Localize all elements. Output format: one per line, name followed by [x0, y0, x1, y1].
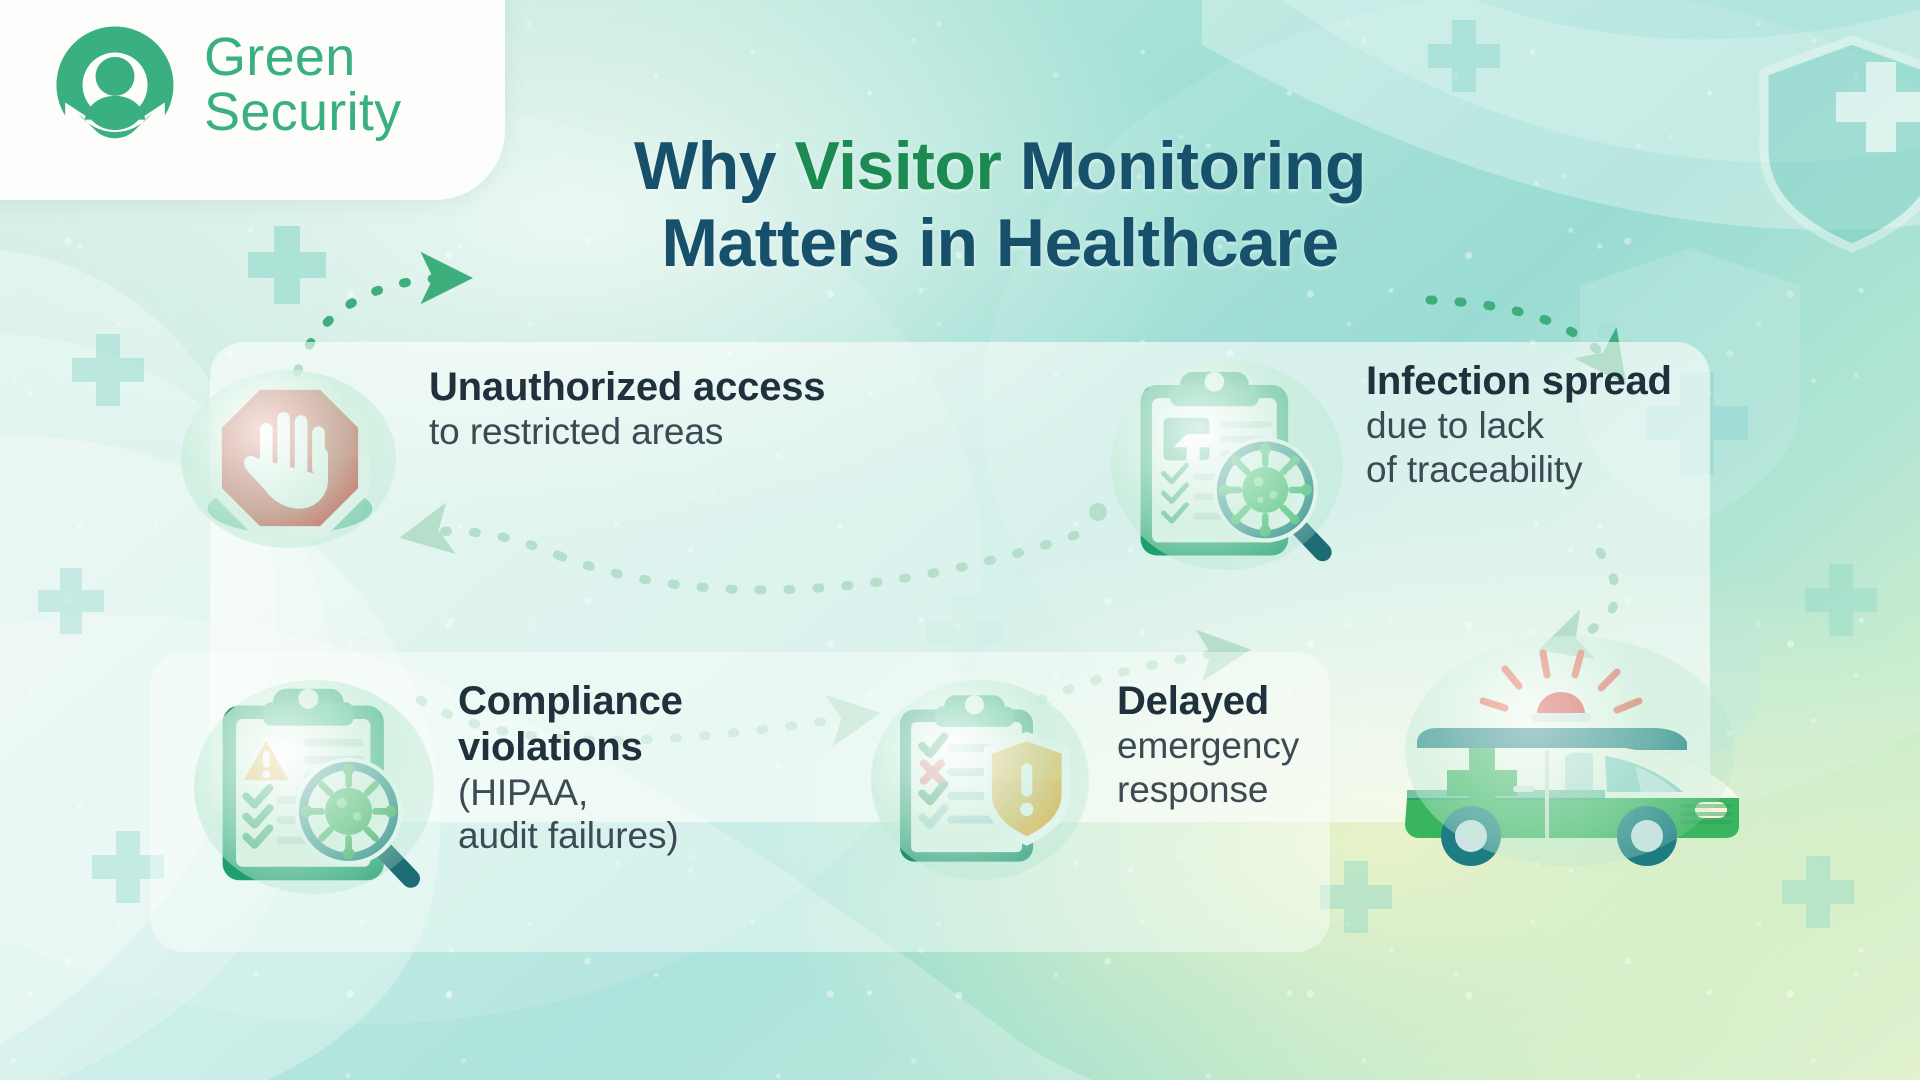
card-text: Infection spread due to lack of traceabi…: [1366, 352, 1766, 492]
card-subline: to restricted areas: [429, 410, 949, 454]
title-why: Why: [634, 128, 794, 204]
card-headline-line2: violations: [458, 724, 768, 770]
card-headline-line1: Compliance: [458, 678, 768, 724]
brand-name-line2: Security: [204, 85, 401, 140]
brand-name-line1: Green: [204, 27, 356, 87]
page-title: Why Visitor Monitoring Matters in Health…: [495, 128, 1505, 282]
card-headline: Unauthorized access: [429, 364, 949, 410]
title-line-2: Matters in Healthcare: [661, 205, 1338, 281]
card-infection-spread[interactable]: Infection spread due to lack of traceabi…: [1105, 352, 1766, 577]
card-text: Unauthorized access to restricted areas: [429, 358, 949, 454]
card-subline: (HIPAA,: [458, 771, 768, 815]
card-subline-2: response: [1117, 768, 1367, 812]
icon-halo: [194, 680, 434, 894]
icon-halo: [1111, 360, 1343, 570]
card-headline: Delayed: [1117, 678, 1367, 724]
card-text: Compliance violations (HIPAA, audit fail…: [458, 672, 768, 858]
brand-logo-plate[interactable]: Green Security: [0, 0, 505, 200]
card-subline-2: of traceability: [1366, 448, 1766, 492]
title-line-1: Why Visitor Monitoring: [634, 128, 1366, 204]
card-headline: Infection spread: [1366, 358, 1766, 404]
title-visitor-accent: Visitor: [794, 128, 1001, 204]
icon-halo: [181, 370, 396, 548]
icon-halo: [871, 680, 1089, 880]
card-text: Delayed emergency response: [1117, 672, 1367, 812]
card-unauthorized-access[interactable]: Unauthorized access to restricted areas: [175, 358, 949, 558]
card-subline: due to lack: [1366, 404, 1766, 448]
person-in-ring-logo-icon: [50, 20, 180, 150]
card-subline: emergency: [1117, 724, 1367, 768]
title-monitoring: Monitoring: [1001, 128, 1366, 204]
brand-name: Green Security: [204, 30, 401, 140]
infographic-canvas: Green Security Why Visitor Monitoring Ma…: [0, 0, 1920, 1080]
card-delayed-emergency-response[interactable]: Delayed emergency response: [865, 672, 1367, 887]
card-subline-2: audit failures): [458, 814, 768, 858]
card-compliance-violations[interactable]: Compliance violations (HIPAA, audit fail…: [190, 672, 768, 902]
